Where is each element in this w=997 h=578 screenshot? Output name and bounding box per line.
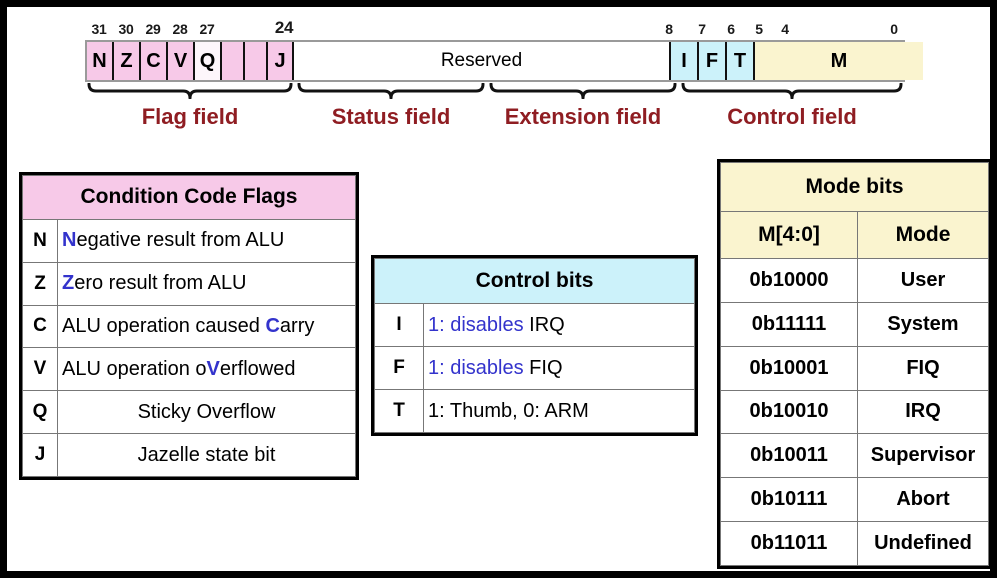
field-label-extension-field: Extension field [505, 104, 661, 130]
mode-value: 0b10001 [721, 346, 858, 390]
control-bit-key-f: F [375, 347, 424, 390]
mode-bits-table: Mode bitsM[4:0]Mode0b10000User0b11111Sys… [717, 159, 992, 569]
field-braces [85, 82, 905, 104]
bit-number-28: 28 [173, 21, 188, 37]
register-cell-q: Q [195, 42, 222, 80]
table-header-row: Mode bits [721, 163, 989, 212]
mode-name: Undefined [858, 522, 989, 566]
brace-status-field [297, 83, 485, 99]
flag-key-c: C [23, 305, 58, 348]
bit-number-27: 27 [200, 21, 215, 37]
register-cell-i: I [671, 42, 699, 80]
table-row: VALU operation oVerflowed [23, 348, 356, 391]
diagram-frame: 313029282724876540 NZCVQJReservedIFTM Fl… [0, 0, 997, 578]
mode-name: IRQ [858, 390, 989, 434]
flag-description-z: Zero result from ALU [58, 262, 356, 305]
bit-number-30: 30 [119, 21, 134, 37]
bit-number-8: 8 [665, 21, 673, 37]
mode-bits-title: Mode bits [721, 163, 989, 212]
flag-description-j: Jazelle state bit [58, 434, 356, 477]
flag-key-v: V [23, 348, 58, 391]
register-cell-m: M [755, 42, 923, 80]
control-bit-key-i: I [375, 304, 424, 347]
field-label-row: Flag fieldStatus fieldExtension fieldCon… [85, 104, 905, 138]
bit-number-0: 0 [890, 21, 898, 37]
field-label-control-field: Control field [727, 104, 857, 130]
flag-description-c: ALU operation caused Carry [58, 305, 356, 348]
table-row: CALU operation caused Carry [23, 305, 356, 348]
table-column-header-row: M[4:0]Mode [721, 212, 989, 259]
bit-number-5: 5 [755, 21, 763, 37]
table-row: 0b10011Supervisor [721, 434, 989, 478]
register-cell-z: Z [114, 42, 141, 80]
mode-name: Abort [858, 478, 989, 522]
mode-column-header-mval: M[4:0] [721, 212, 858, 259]
bit-number-31: 31 [92, 21, 107, 37]
condition-code-flags-table: Condition Code FlagsNNegative result fro… [19, 172, 359, 480]
register-cell-unused-5 [222, 42, 245, 80]
flag-key-z: Z [23, 262, 58, 305]
control-bit-key-t: T [375, 390, 424, 433]
table-row: JJazelle state bit [23, 434, 356, 477]
flag-key-j: J [23, 434, 58, 477]
register-cell-unused-6 [245, 42, 268, 80]
table-row: ZZero result from ALU [23, 262, 356, 305]
mode-value: 0b10010 [721, 390, 858, 434]
mode-name: Supervisor [858, 434, 989, 478]
table-row: I1: disables IRQ [375, 304, 695, 347]
cpsr-register-diagram: 313029282724876540 NZCVQJReservedIFTM Fl… [85, 21, 905, 138]
brace-control-field [681, 83, 903, 99]
mode-value: 0b10111 [721, 478, 858, 522]
bit-number-24: 24 [275, 18, 293, 38]
cc-flags-title: Condition Code Flags [23, 176, 356, 220]
register-cell-n: N [87, 42, 114, 80]
table-row: 0b11111System [721, 302, 989, 346]
control-bits-title: Control bits [375, 259, 695, 304]
flag-description-v: ALU operation oVerflowed [58, 348, 356, 391]
brace-flag-field [87, 83, 293, 99]
control-bit-description-f: 1: disables FIQ [424, 347, 695, 390]
control-bits-table: Control bitsI1: disables IRQF1: disables… [371, 255, 698, 436]
table-header-row: Control bits [375, 259, 695, 304]
register-cell-t: T [727, 42, 755, 80]
bit-number-6: 6 [727, 21, 735, 37]
flag-key-q: Q [23, 391, 58, 434]
mode-column-header-mode: Mode [858, 212, 989, 259]
table-row: NNegative result from ALU [23, 219, 356, 262]
flag-description-q: Sticky Overflow [58, 391, 356, 434]
mode-value: 0b11111 [721, 302, 858, 346]
table-row: F1: disables FIQ [375, 347, 695, 390]
bit-number-4: 4 [781, 21, 789, 37]
register-cell-reserved: Reserved [294, 42, 671, 80]
field-label-status-field: Status field [332, 104, 451, 130]
table-row: 0b10001FIQ [721, 346, 989, 390]
flag-key-n: N [23, 219, 58, 262]
field-label-flag-field: Flag field [142, 104, 239, 130]
flag-description-n: Negative result from ALU [58, 219, 356, 262]
bit-number-row: 313029282724876540 [85, 21, 905, 40]
bit-number-7: 7 [698, 21, 706, 37]
table-row: 0b11011Undefined [721, 522, 989, 566]
table-row: T1: Thumb, 0: ARM [375, 390, 695, 433]
mode-value: 0b11011 [721, 522, 858, 566]
table-row: QSticky Overflow [23, 391, 356, 434]
brace-extension-field [489, 83, 677, 99]
table-row: 0b10010IRQ [721, 390, 989, 434]
register-cell-c: C [141, 42, 168, 80]
register-cell-f: F [699, 42, 727, 80]
control-bit-description-t: 1: Thumb, 0: ARM [424, 390, 695, 433]
mode-name: System [858, 302, 989, 346]
bit-number-29: 29 [146, 21, 161, 37]
register-cell-j: J [268, 42, 294, 80]
table-row: 0b10111Abort [721, 478, 989, 522]
mode-value: 0b10011 [721, 434, 858, 478]
control-bit-description-i: 1: disables IRQ [424, 304, 695, 347]
table-header-row: Condition Code Flags [23, 176, 356, 220]
table-row: 0b10000User [721, 259, 989, 303]
register-cell-v: V [168, 42, 195, 80]
mode-name: FIQ [858, 346, 989, 390]
mode-value: 0b10000 [721, 259, 858, 303]
mode-name: User [858, 259, 989, 303]
cpsr-register-bar: NZCVQJReservedIFTM [85, 40, 905, 82]
